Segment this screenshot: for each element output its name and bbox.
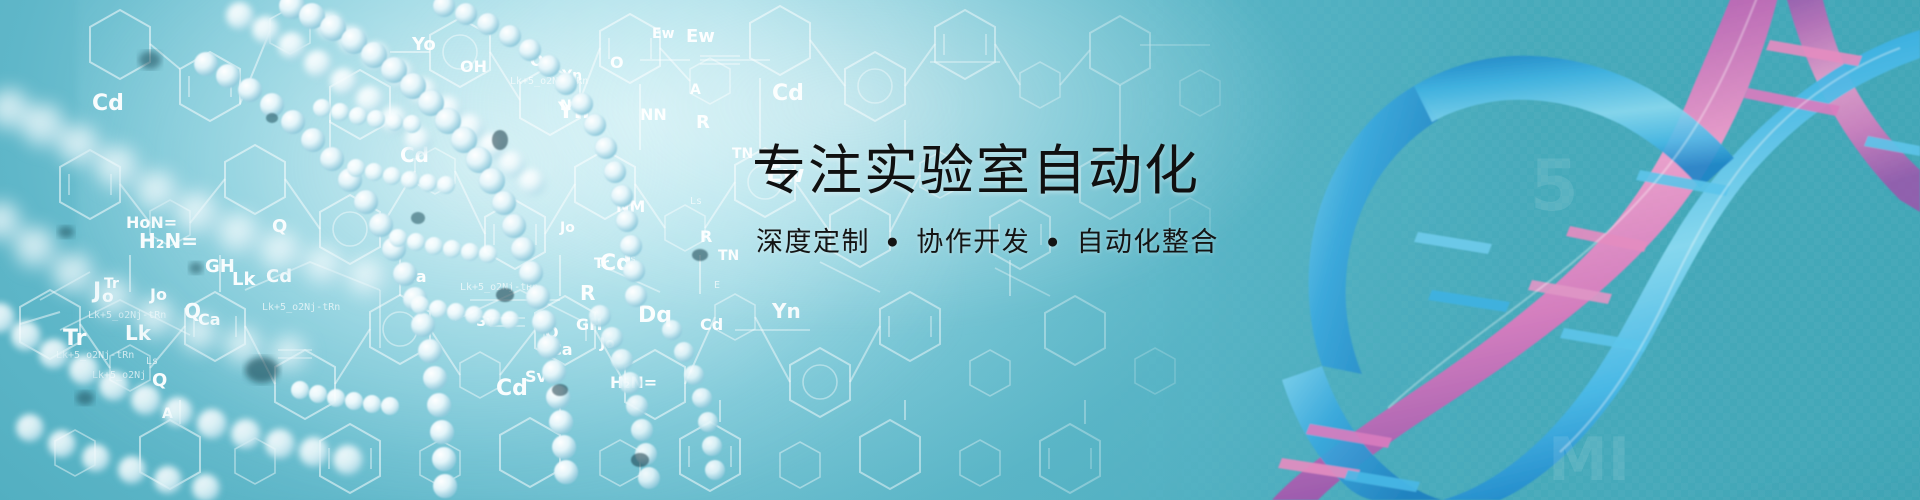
- bullet-separator-icon: ●: [879, 230, 907, 253]
- watermark-text: MI: [1548, 425, 1630, 495]
- banner-text-block: 专注实验室自动化 深度定制 ● 协作开发 ● 自动化整合: [752, 140, 1392, 259]
- page-title: 专注实验室自动化: [752, 140, 1392, 204]
- subtitle-item-1: 深度定制: [756, 227, 870, 257]
- hero-banner: Cd Yo Ew Ew Yn Yn Ew Yn Cd Cd Cd Cd Cd C…: [0, 0, 1920, 500]
- banner-subtitle: 深度定制 ● 协作开发 ● 自动化整合: [756, 220, 1392, 259]
- subtitle-item-3: 自动化整合: [1076, 227, 1219, 257]
- bullet-separator-icon: ●: [1039, 230, 1067, 253]
- watermark-text: 5: [1530, 145, 1579, 227]
- subtitle-item-2: 协作开发: [916, 227, 1030, 257]
